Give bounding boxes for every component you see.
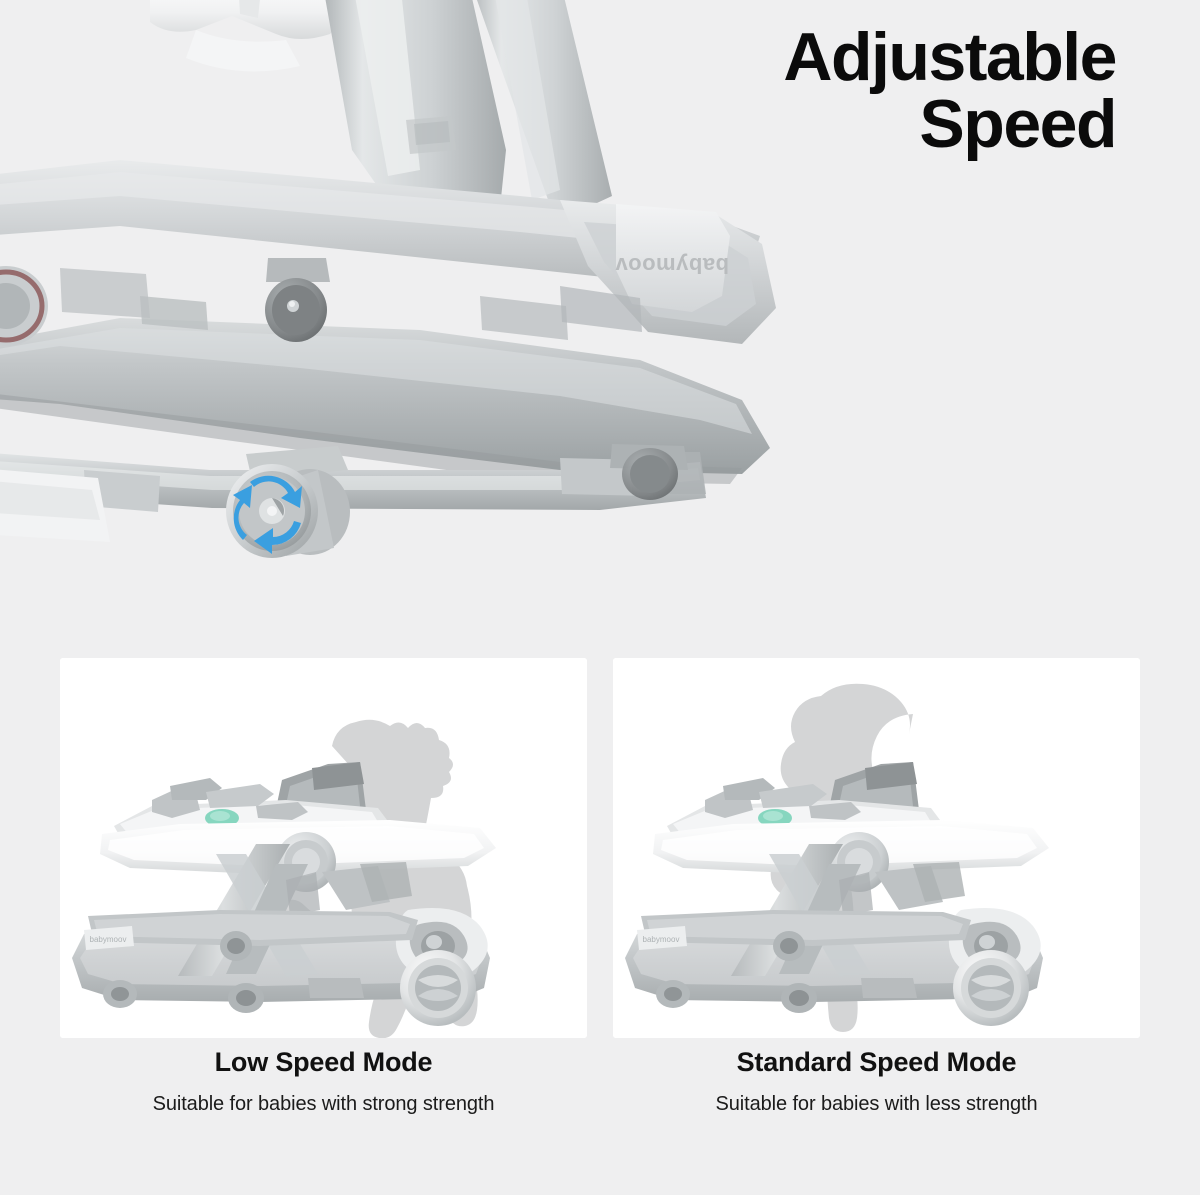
low-speed-title: Low Speed Mode: [60, 1048, 587, 1078]
caster-wheel-upper: [265, 258, 330, 342]
panel-captions: Low Speed Mode Suitable for babies with …: [60, 1048, 1140, 1116]
standard-speed-illustration: babymoov: [613, 658, 1140, 1038]
caption-low-speed: Low Speed Mode Suitable for babies with …: [60, 1048, 587, 1116]
page-title: Adjustable Speed: [783, 24, 1116, 157]
speed-mode-panels: babymoov: [60, 658, 1140, 1038]
svg-text:babymoov: babymoov: [615, 253, 729, 278]
standard-speed-subtitle: Suitable for babies with less strength: [613, 1092, 1140, 1116]
hero-section: babymoov: [0, 0, 1200, 640]
marketing-image-root: babymoov: [0, 0, 1200, 1195]
brand-logo-plate: babymoov: [615, 204, 730, 312]
front-wheel-large: [953, 950, 1029, 1026]
panel-standard-speed[interactable]: babymoov: [613, 658, 1140, 1038]
standard-speed-title: Standard Speed Mode: [613, 1048, 1140, 1078]
svg-text:babymoov: babymoov: [90, 935, 127, 944]
front-wheel-large: [400, 950, 476, 1026]
svg-text:babymoov: babymoov: [643, 935, 680, 944]
panel-low-speed[interactable]: babymoov: [60, 658, 587, 1038]
low-speed-illustration: babymoov: [60, 658, 587, 1038]
low-speed-subtitle: Suitable for babies with strong strength: [60, 1092, 587, 1116]
caption-standard-speed: Standard Speed Mode Suitable for babies …: [613, 1048, 1140, 1116]
